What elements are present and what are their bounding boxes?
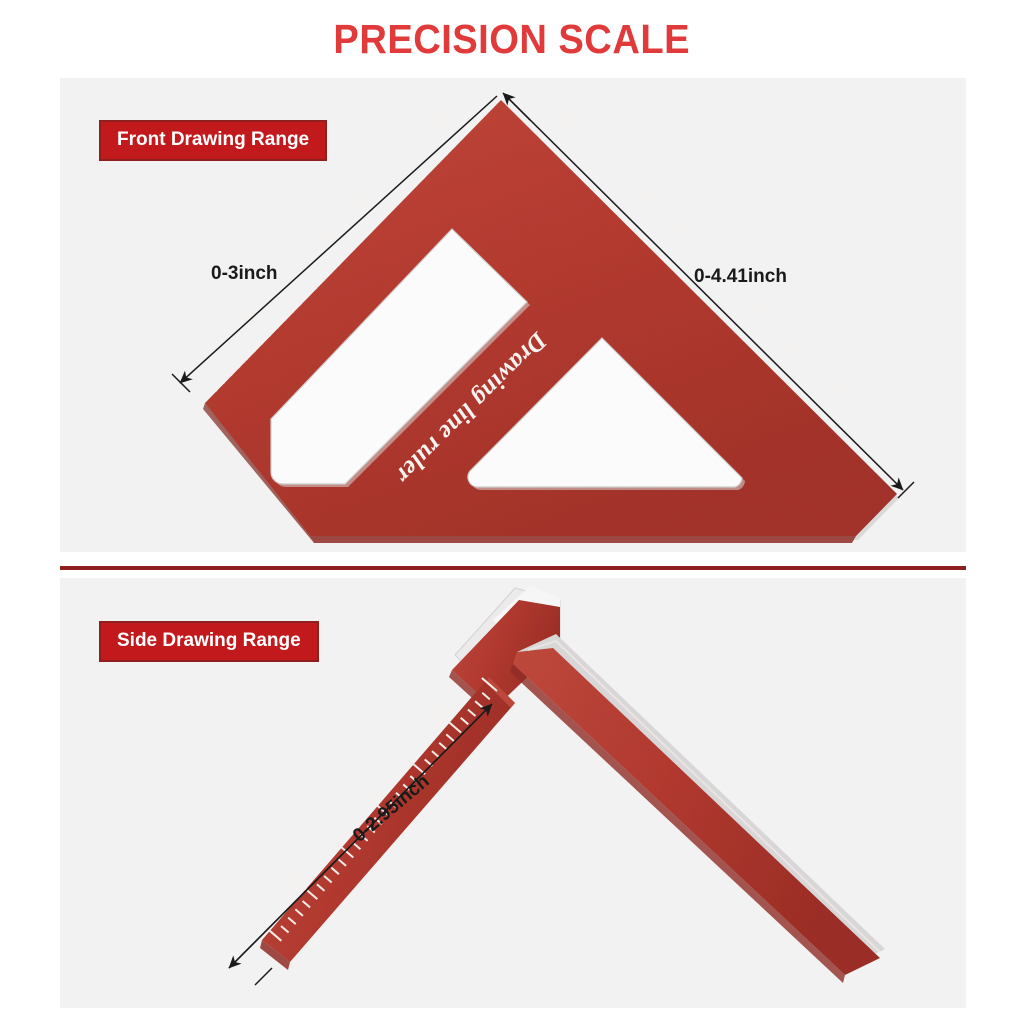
badge-front-drawing-range: Front Drawing Range [99,120,327,161]
page-title-bar: PRECISION SCALE [0,0,1024,78]
page-title: PRECISION SCALE [334,16,691,63]
dimension-label-front-right: 0-4.41inch [694,266,787,288]
badge-side-drawing-range: Side Drawing Range [99,621,319,662]
panel-divider [60,566,966,570]
dimension-label-front-left: 0-3inch [211,263,278,285]
infographic-page: PRECISION SCALE [0,0,1024,1024]
